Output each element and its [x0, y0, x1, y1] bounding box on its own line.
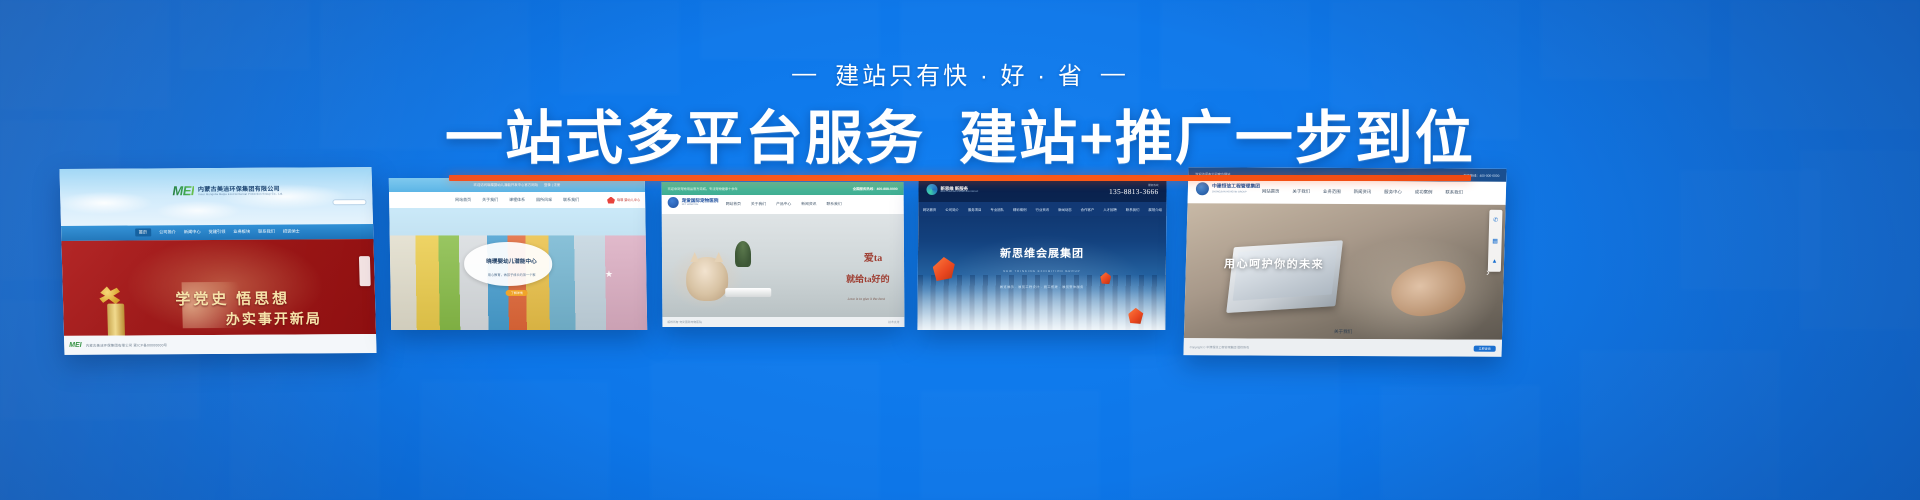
- hero-line-1: 学党史 悟思想: [175, 287, 290, 309]
- bubble-title: 晓璎婴幼儿潜能中心: [469, 257, 553, 265]
- hero-line-1: 爱ta: [864, 249, 882, 264]
- nav-item-4[interactable]: 精彩案例: [1013, 207, 1027, 212]
- topbar-left: 欢迎来到宠物用品官方商城，专注宠物健康十余年: [668, 186, 738, 191]
- nav-item-3[interactable]: 新闻资讯: [1354, 189, 1372, 195]
- star-icon: ★: [605, 269, 613, 280]
- nav-item-7[interactable]: 合作客户: [1081, 207, 1095, 212]
- side-rail-widget[interactable]: [359, 256, 371, 286]
- site-topbar: 欢迎来到宠物用品官方商城，专注宠物健康十余年 全国服务热线：400-888-00…: [662, 182, 904, 195]
- nav-item-4[interactable]: 业务板块: [233, 229, 250, 235]
- nav-item-8[interactable]: 人才招聘: [1103, 207, 1117, 212]
- nav-item-0[interactable]: 首页: [135, 229, 152, 237]
- hero-title: 用心呵护你的未来: [1224, 256, 1324, 273]
- site-screenshot: 新思维 新服务 NEW THINKING EXHIBITION GROUP 服务…: [917, 178, 1166, 330]
- headline-part1: 一站式多平台服务: [445, 106, 925, 171]
- logo-company-en: PET HOSPITAL: [682, 203, 719, 206]
- topbar-text: 欢迎访问晓璎婴幼儿潜能开发中心官方网站: [473, 182, 538, 187]
- nav-item-2[interactable]: 业务范围: [1323, 189, 1341, 195]
- footer-text: 内蒙古美洁环保集团有限公司 蒙ICP备00000000号: [86, 342, 168, 347]
- nav-item-3[interactable]: 新闻资讯: [801, 202, 816, 207]
- hero-line-2: 办实事开新局: [226, 308, 323, 329]
- banner-copy: —建站只有快 · 好 · 省— 一站式多平台服务建站+推广一步到位: [0, 0, 1920, 173]
- bubble-subtitle: 用心教育，做孩子成长的第一个家: [470, 272, 554, 277]
- showcase-card-exhibition[interactable]: 新思维 新服务 NEW THINKING EXHIBITION GROUP 服务…: [917, 178, 1166, 330]
- site-hotline: 服务热线 135-8813-3666: [1109, 183, 1159, 196]
- paw-logo-icon: [668, 197, 679, 208]
- showcase-card-kindergarten[interactable]: 欢迎访问晓璎婴幼儿潜能开发中心官方网站 登录 | 注册 网站首页 关于我们 课程…: [389, 178, 647, 330]
- nav-item-3[interactable]: 专业团队: [990, 207, 1004, 212]
- hero-title-en: NEW THINKING EXHIBITION GROUP: [918, 269, 1166, 273]
- eyebrow-text: 建站只有快 · 好 · 省: [835, 63, 1085, 90]
- hero-line-2: 就给ta好的: [846, 272, 890, 285]
- hotline-number: 135-8813-3666: [1109, 187, 1159, 196]
- site-screenshot: 欢迎访问本公司官方网站 服务热线：400-000-0000 网站首页 关于我们 …: [1183, 167, 1506, 357]
- globe-logo-icon: [926, 184, 937, 195]
- showcase-card-pet[interactable]: 欢迎来到宠物用品官方商城，专注宠物健康十余年 全国服务热线：400-888-00…: [662, 182, 905, 327]
- nav-item-1[interactable]: 公司简介: [945, 207, 959, 212]
- headline-underline-accent: [449, 175, 1471, 181]
- nav-item-1[interactable]: 关于我们: [1292, 189, 1310, 195]
- nav-item-0[interactable]: 网站首页: [1262, 189, 1280, 195]
- promo-banner: —建站只有快 · 好 · 省— 一站式多平台服务建站+推广一步到位 MEI 内蒙…: [0, 0, 1920, 500]
- nav-item-1[interactable]: 关于我们: [751, 202, 766, 207]
- logo-company-en: ZHONGJIAN HENGXIN GROUP: [1212, 190, 1260, 193]
- nav-item-3[interactable]: 园所风采: [536, 197, 552, 203]
- laptop-photo: [1226, 241, 1343, 314]
- site-nav[interactable]: 网站首页 公司简介 服务项目 专业团队 精彩案例 行业资讯 新闻动态 合作客户 …: [918, 202, 1166, 216]
- site-screenshot: 欢迎来到宠物用品官方商城，专注宠物健康十余年 全国服务热线：400-888-00…: [662, 182, 905, 327]
- cat-photo: [686, 257, 728, 301]
- nav-item-2[interactable]: 新闻中心: [184, 229, 201, 235]
- nav-item-4[interactable]: 联系我们: [826, 202, 841, 207]
- footer-left: 版权所有 宠爱国际宠物医院: [667, 320, 701, 324]
- site-screenshot: 欢迎访问晓璎婴幼儿潜能开发中心官方网站 登录 | 注册 网站首页 关于我们 课程…: [389, 178, 647, 330]
- site-logo: 新思维 新服务 NEW THINKING EXHIBITION GROUP: [926, 184, 978, 195]
- nav-item-6[interactable]: 招贤纳士: [283, 229, 300, 235]
- site-logo: 中建恒信工程管理集团 ZHONGJIAN HENGXIN GROUP: [1196, 182, 1260, 195]
- pet-bowl-decor: [725, 288, 771, 297]
- site-screenshot: MEI 内蒙古美洁环保集团有限公司 Inner Mongolia Meijie …: [59, 167, 376, 355]
- nav-item-5[interactable]: 行业资讯: [1036, 207, 1050, 212]
- nav-item-6[interactable]: 联系我们: [1445, 190, 1463, 196]
- qrcode-icon[interactable]: ▦: [1492, 238, 1498, 245]
- top-icon[interactable]: ▲: [1491, 259, 1497, 265]
- logo-company-en: NEW THINKING EXHIBITION GROUP: [940, 191, 978, 193]
- phone-icon[interactable]: ✆: [1493, 217, 1498, 224]
- hero-title: 新思维会展集团: [918, 245, 1166, 261]
- footer-right: 技术支持: [888, 320, 899, 324]
- nav-item-4[interactable]: 服务中心: [1384, 190, 1402, 196]
- footer-cta-button[interactable]: 立即咨询: [1474, 345, 1496, 351]
- logo-company-en: Inner Mongolia Meijie Environmental Prot…: [198, 193, 283, 197]
- site-footer: MEI 内蒙古美洁环保集团有限公司 蒙ICP备00000000号: [64, 334, 377, 354]
- eyebrow-dash-left: —: [776, 60, 835, 88]
- footer-left: Copyright © 中建恒信工程管理集团 版权所有: [1190, 345, 1250, 349]
- nav-item-9[interactable]: 联系我们: [1126, 207, 1140, 212]
- site-logo: MEI 内蒙古美洁环保集团有限公司 Inner Mongolia Meijie …: [172, 182, 283, 198]
- hand-photo: [1386, 256, 1470, 324]
- showcase-card-corporate[interactable]: 欢迎访问本公司官方网站 服务热线：400-000-0000 网站首页 关于我们 …: [1183, 167, 1506, 357]
- site-logo: 宠爱国际宠物医院 PET HOSPITAL: [668, 197, 719, 208]
- site-logo: 晓璎 婴幼儿中心: [607, 192, 640, 209]
- plant-decor: [735, 241, 751, 267]
- nav-item-2[interactable]: 课程体系: [509, 197, 525, 203]
- headline-part2: 建站+推广一步到位: [959, 106, 1475, 171]
- nav-item-6[interactable]: 新闻动态: [1058, 207, 1072, 212]
- logo-text: 晓璎 婴幼儿中心: [617, 198, 640, 202]
- nav-item-3[interactable]: 党建引领: [209, 229, 226, 235]
- hero-subtitle: 展览展示 · 展览工程设计 · 施工搭建 · 展览整体服务: [918, 284, 1166, 289]
- hero-subtitle-en: Love is to give it the best: [848, 297, 885, 301]
- roof-icon: [607, 197, 615, 204]
- bubble-cta-button[interactable]: 了解详情: [506, 290, 528, 296]
- banner-headline: 一站式多平台服务建站+推广一步到位: [445, 105, 1475, 173]
- site-footer: Copyright © 中建恒信工程管理集团 版权所有 立即咨询: [1183, 338, 1502, 357]
- site-hero: 学党史 悟思想 办实事开新局: [61, 239, 376, 337]
- topbar-right[interactable]: 登录 | 注册: [544, 182, 560, 187]
- nav-item-1[interactable]: 公司简介: [159, 229, 176, 235]
- carousel-next-arrow[interactable]: ›: [1486, 266, 1490, 278]
- nav-item-0[interactable]: 网站首页: [455, 197, 471, 203]
- nav-item-4[interactable]: 联系我们: [563, 197, 579, 203]
- banner-eyebrow: —建站只有快 · 好 · 省—: [0, 56, 1920, 91]
- site-footer: 版权所有 宠爱国际宠物医院 技术支持: [662, 317, 904, 327]
- footer-logo: MEI: [69, 342, 82, 349]
- side-rail-widget[interactable]: ✆ ▦ ▲: [1488, 210, 1503, 272]
- headline-wrap: 一站式多平台服务建站+推广一步到位: [445, 105, 1475, 173]
- site-search-input[interactable]: [332, 199, 366, 205]
- logo-wordmark: MEI: [172, 183, 194, 198]
- nav-item-5[interactable]: 联系我们: [258, 229, 275, 235]
- showcase-card-strip: MEI 内蒙古美洁环保集团有限公司 Inner Mongolia Meijie …: [0, 168, 1920, 398]
- monument-column-decor: [107, 303, 125, 336]
- showcase-card-party-education[interactable]: MEI 内蒙古美洁环保集团有限公司 Inner Mongolia Meijie …: [59, 167, 376, 355]
- nav-item-0[interactable]: 网站首页: [923, 207, 937, 212]
- hero-photo-cat: [662, 214, 905, 317]
- topbar-hotline: 全国服务热线：400-888-0000: [853, 186, 898, 191]
- nav-item-0[interactable]: 网站首页: [726, 202, 741, 207]
- nav-item-10[interactable]: 展馆介绍: [1148, 207, 1162, 212]
- nav-item-2[interactable]: 服务项目: [968, 207, 982, 212]
- nav-item-2[interactable]: 产品中心: [776, 202, 791, 207]
- nav-item-1[interactable]: 关于我们: [482, 197, 498, 203]
- nav-item-5[interactable]: 成功案例: [1415, 190, 1433, 196]
- emblem-logo-icon: [1196, 182, 1209, 195]
- eyebrow-dash-right: —: [1085, 60, 1144, 88]
